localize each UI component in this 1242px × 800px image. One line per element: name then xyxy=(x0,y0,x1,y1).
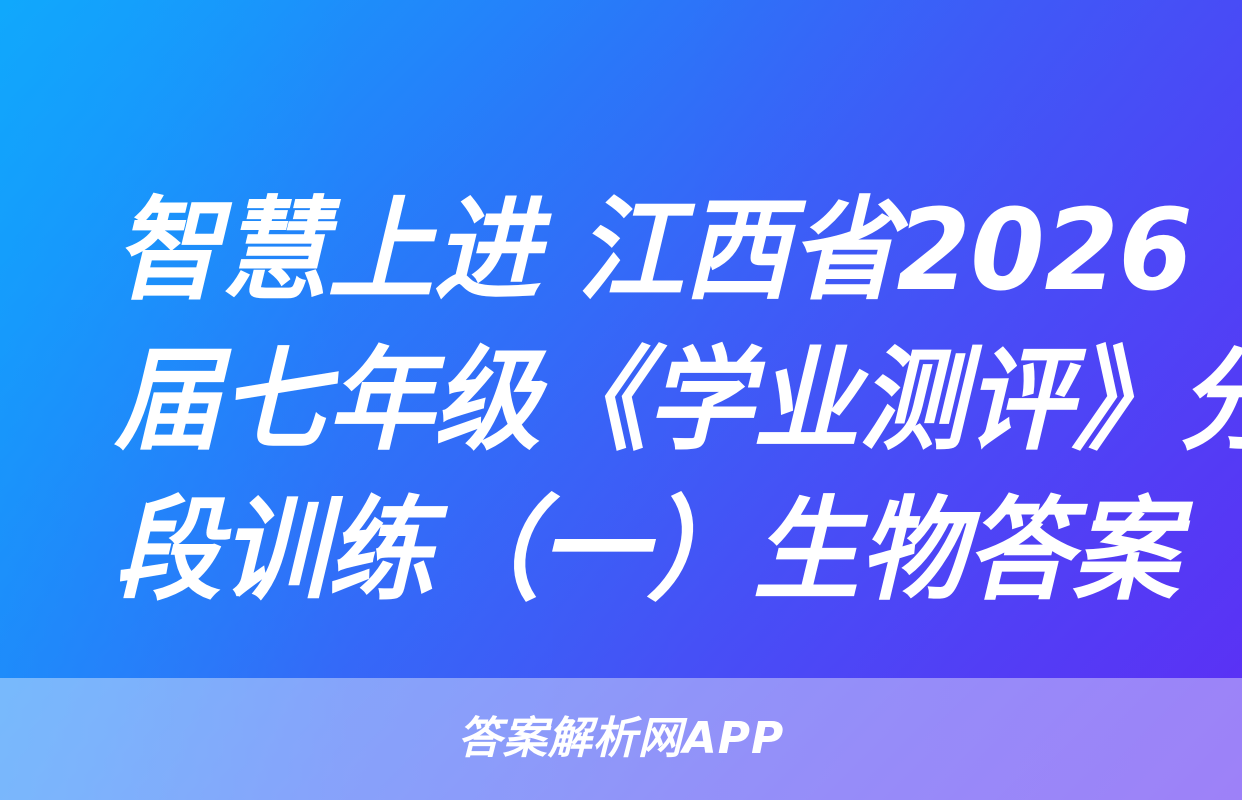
page-title: 智慧上进 江西省2026 届七年级《学业测评》分 段训练（一）生物答案 xyxy=(0,176,1242,626)
answer-key-promo-card: 智慧上进 江西省2026 届七年级《学业测评》分 段训练（一）生物答案 答案解析… xyxy=(0,0,1242,800)
title-line-3: 段训练（一）生物答案 xyxy=(115,476,1128,626)
footer-banner: 答案解析网APP xyxy=(0,678,1242,800)
title-line-2: 届七年级《学业测评》分 xyxy=(115,326,1128,476)
app-brand-label: 答案解析网APP xyxy=(458,711,785,767)
title-line-1: 智慧上进 江西省2026 xyxy=(115,176,1128,326)
